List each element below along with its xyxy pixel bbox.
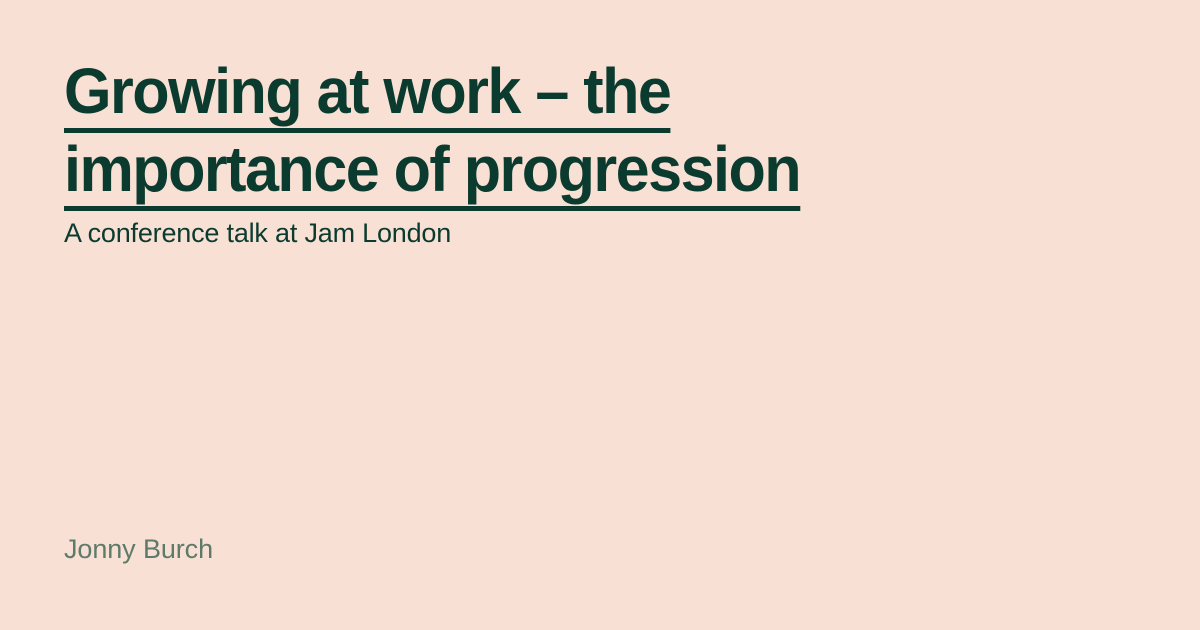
share-card: Growing at work – the importance of prog…: [0, 0, 1200, 630]
subtitle: A conference talk at Jam London: [64, 216, 451, 250]
title-line-1: Growing at work – the: [64, 58, 670, 135]
page-title: Growing at work – the importance of prog…: [64, 58, 1064, 213]
author-name: Jonny Burch: [64, 532, 213, 566]
title-line-2: importance of progression: [64, 136, 800, 213]
